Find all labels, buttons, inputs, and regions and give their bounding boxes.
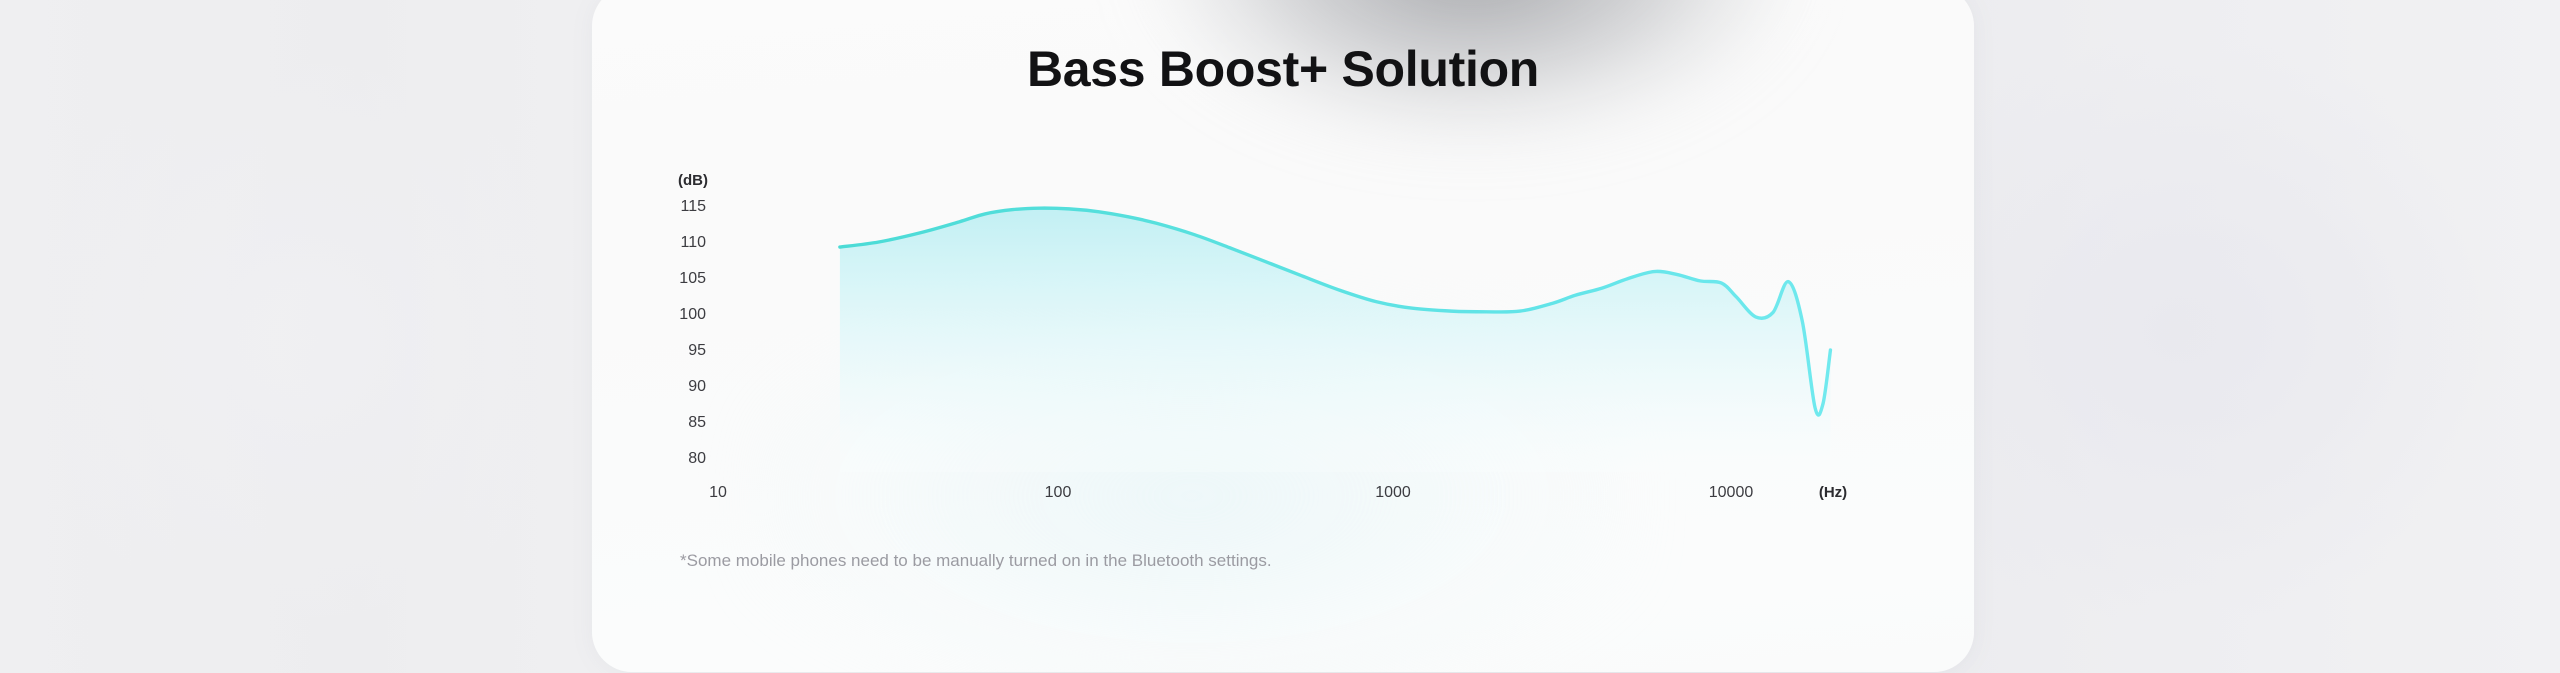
footnote-text: *Some mobile phones need to be manually … bbox=[680, 551, 1272, 571]
product-feature-card: Bass Boost+ Solution (dB) 115 110 105 10… bbox=[592, 0, 1974, 672]
frequency-response-curve bbox=[680, 184, 1950, 514]
curve-area-fill bbox=[840, 208, 1831, 472]
frequency-response-chart: (dB) 115 110 105 100 95 90 85 80 10 100 … bbox=[680, 184, 1950, 514]
page-title: Bass Boost+ Solution bbox=[592, 40, 1974, 98]
